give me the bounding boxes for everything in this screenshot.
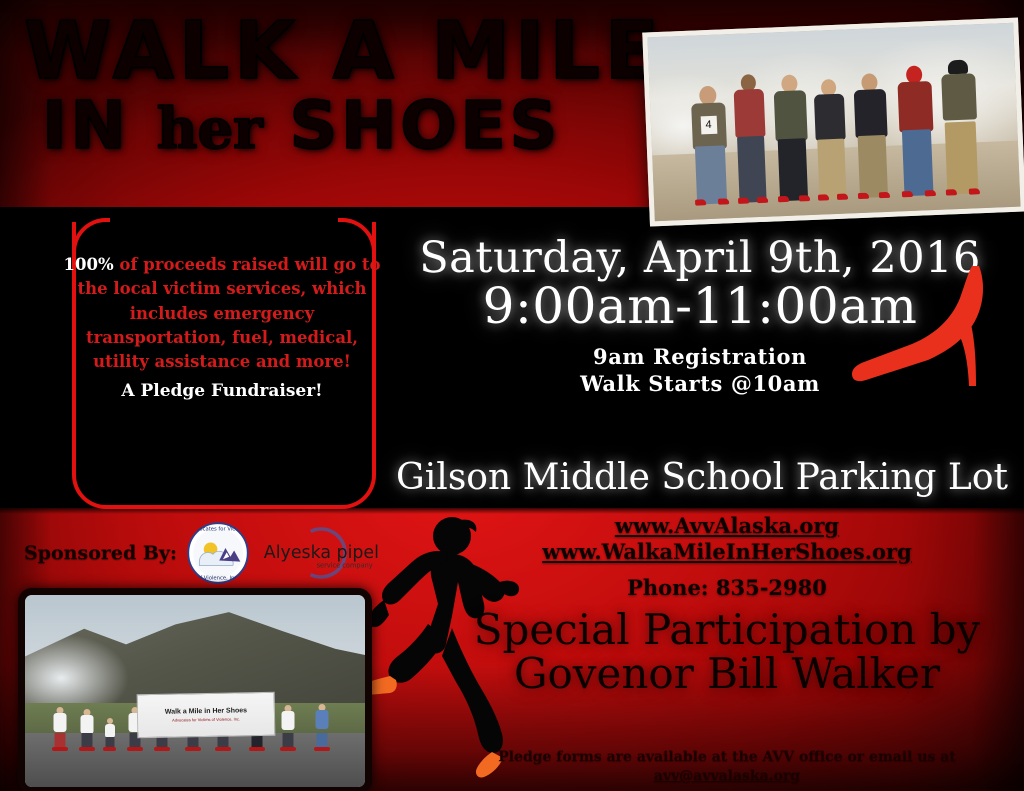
photo-person [730,74,771,203]
alyeska-pipeline-logo-icon: Alyeska pipeline service company [259,524,379,582]
photo-red-heel [879,192,890,198]
photo-person-legs [902,129,934,196]
photo-red-heel [799,195,810,201]
title-word-in: IN [42,87,130,164]
photo-person-torso [898,81,934,132]
photo-group-with-banner: Walk a Mile in Her Shoes Advocates for V… [18,588,372,791]
banner-main-text: Walk a Mile in Her Shoes [165,707,247,715]
red-high-heel-icon [848,262,998,394]
contact-links: www.AvvAlaska.org www.WalkaMileInHerShoe… [430,513,1024,600]
avv-logo-text-bottom: of Violence, Inc. [197,576,239,582]
alyeska-logo-subtext: service company [317,561,373,569]
photo-person [894,65,939,197]
photo-person-torso [814,94,846,141]
photo-red-heel [946,189,957,195]
proceeds-percent: 100% [64,255,114,274]
phone-number: Phone: 835-2980 [430,575,1024,600]
photo-person-torso [854,89,888,138]
photo-person [850,73,893,198]
photo-person-torso [733,89,765,138]
website-link-avvalaska[interactable]: www.AvvAlaska.org [430,513,1024,539]
photo-red-heel [858,193,869,199]
photo-bib-number: 4 [700,116,717,135]
photo-red-heel [818,195,829,201]
proceeds-statement: 100% of proceeds raised will go to the l… [62,253,382,404]
photo-red-heel [837,194,848,200]
alyeska-logo-text: Alyeska pipeline [264,543,379,563]
photo-red-heel [925,190,936,196]
photo-red-heel [969,188,980,194]
avv-logo-icon: Advocates for Victims of Violence, Inc. [187,522,249,584]
photo-person-firefighter [938,59,983,194]
photo-men-in-heels: 4 [642,18,1024,227]
photo-person-legs [817,139,846,200]
group-photo-banner: Walk a Mile in Her Shoes Advocates for V… [137,692,276,739]
avv-logo-text-top: Advocates for Victims [189,527,246,533]
pledge-fundraiser-line: A Pledge Fundraiser! [62,379,382,404]
poster-title: WALK A MILE IN her SHOES [24,14,624,158]
title-line-1: WALK A MILE [24,14,624,89]
photo-red-heel [718,199,729,205]
event-venue: Gilson Middle School Parking Lot [380,457,1024,498]
photo-person-torso [774,90,808,141]
photo-person: 4 [686,86,733,206]
proceeds-body: of proceeds raised will go to the local … [77,255,380,371]
group-photo-person [314,704,330,749]
special-participation-line: Special Participation by [430,608,1024,652]
photo-red-heel [756,197,767,203]
group-photo-person [280,705,296,749]
governor-name-line: Govenor Bill Walker [430,652,1024,696]
footer-note: Pledge forms are available at the AVV of… [430,748,1024,786]
photo-red-heel [778,196,789,202]
photo-person-legs [858,135,888,198]
photo-red-heel [902,191,913,197]
photo-person-legs [777,138,807,201]
photo-red-heel [737,198,748,204]
title-word-her: her [157,96,263,162]
group-photo-person [52,707,68,749]
group-photo-person [79,709,95,749]
photo-red-heel [695,199,706,205]
group-photo-child [103,718,116,749]
banner-sub-text: Advocates for Victims of Violence, Inc. [172,716,240,722]
title-word-shoes: SHOES [290,87,562,164]
footer-text: Pledge forms are available at the AVV of… [498,749,956,765]
photo-person [770,74,813,201]
special-guest: Special Participation by Govenor Bill Wa… [430,608,1024,695]
website-link-walkamile[interactable]: www.WalkaMileInHerShoes.org [430,539,1024,565]
sponsored-by-label: Sponsored By: [24,542,177,564]
photo-person [810,79,851,200]
event-poster: WALK A MILE IN her SHOES 4 [0,0,1024,791]
photo-person-legs [945,122,979,195]
title-line-2: IN her SHOES [42,95,624,158]
photo-person-legs [694,146,726,205]
photo-person-torso [941,74,977,121]
sponsor-row: Sponsored By: Advocates for Victims of V… [24,520,394,586]
footer-email-link[interactable]: avv@avvalaska.org [654,768,800,784]
photo-person-helmet [948,60,969,75]
photo-person-legs [737,136,767,203]
